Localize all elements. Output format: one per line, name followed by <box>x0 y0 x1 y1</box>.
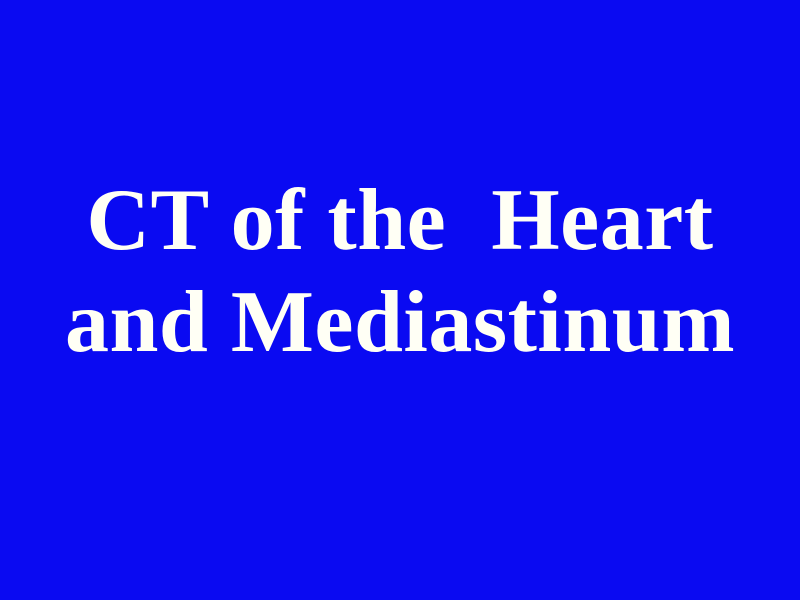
slide-title-block: CT of the Heart and Mediastinum <box>0 0 800 600</box>
slide-title-line-1: CT of the Heart <box>0 170 800 272</box>
presentation-slide: CT of the Heart and Mediastinum <box>0 0 800 600</box>
slide-title-line-2: and Mediastinum <box>0 272 800 374</box>
